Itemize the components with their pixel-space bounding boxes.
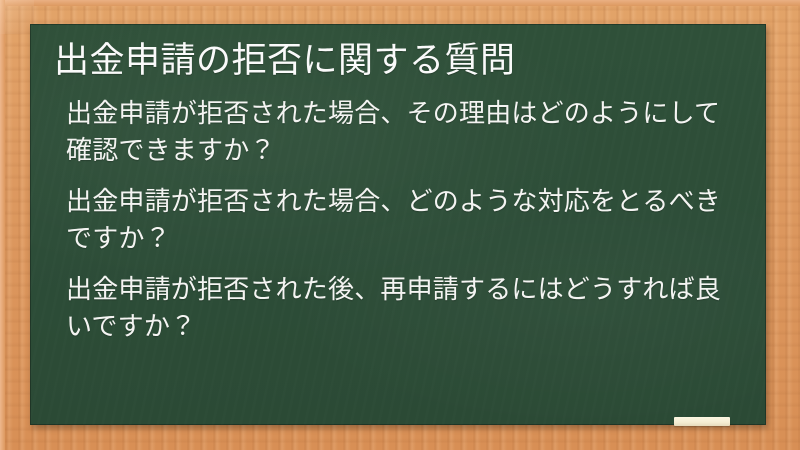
list-item: 出金申請が拒否された場合、どのような対応をとるべきですか？ [66,183,744,257]
list-item: 出金申請が拒否された場合、その理由はどのようにして確認できますか？ [66,95,744,169]
board-content: 出金申請の拒否に関する質問 出金申請が拒否された場合、その理由はどのようにして確… [30,24,766,425]
frame-edge-left [0,0,5,450]
frame-edge-top [0,0,800,6]
page-title: 出金申請の拒否に関する質問 [44,34,744,81]
question-list: 出金申請が拒否された場合、その理由はどのようにして確認できますか？ 出金申請が拒… [44,95,744,344]
chalkboard-surface: 出金申請の拒否に関する質問 出金申請が拒否された場合、その理由はどのようにして確… [30,24,766,425]
list-item: 出金申請が拒否された後、再申請するにはどうすれば良いですか？ [66,271,744,345]
chalkboard-slide: 出金申請の拒否に関する質問 出金申請が拒否された場合、その理由はどのようにして確… [0,0,800,450]
chalk-stick [674,417,730,426]
